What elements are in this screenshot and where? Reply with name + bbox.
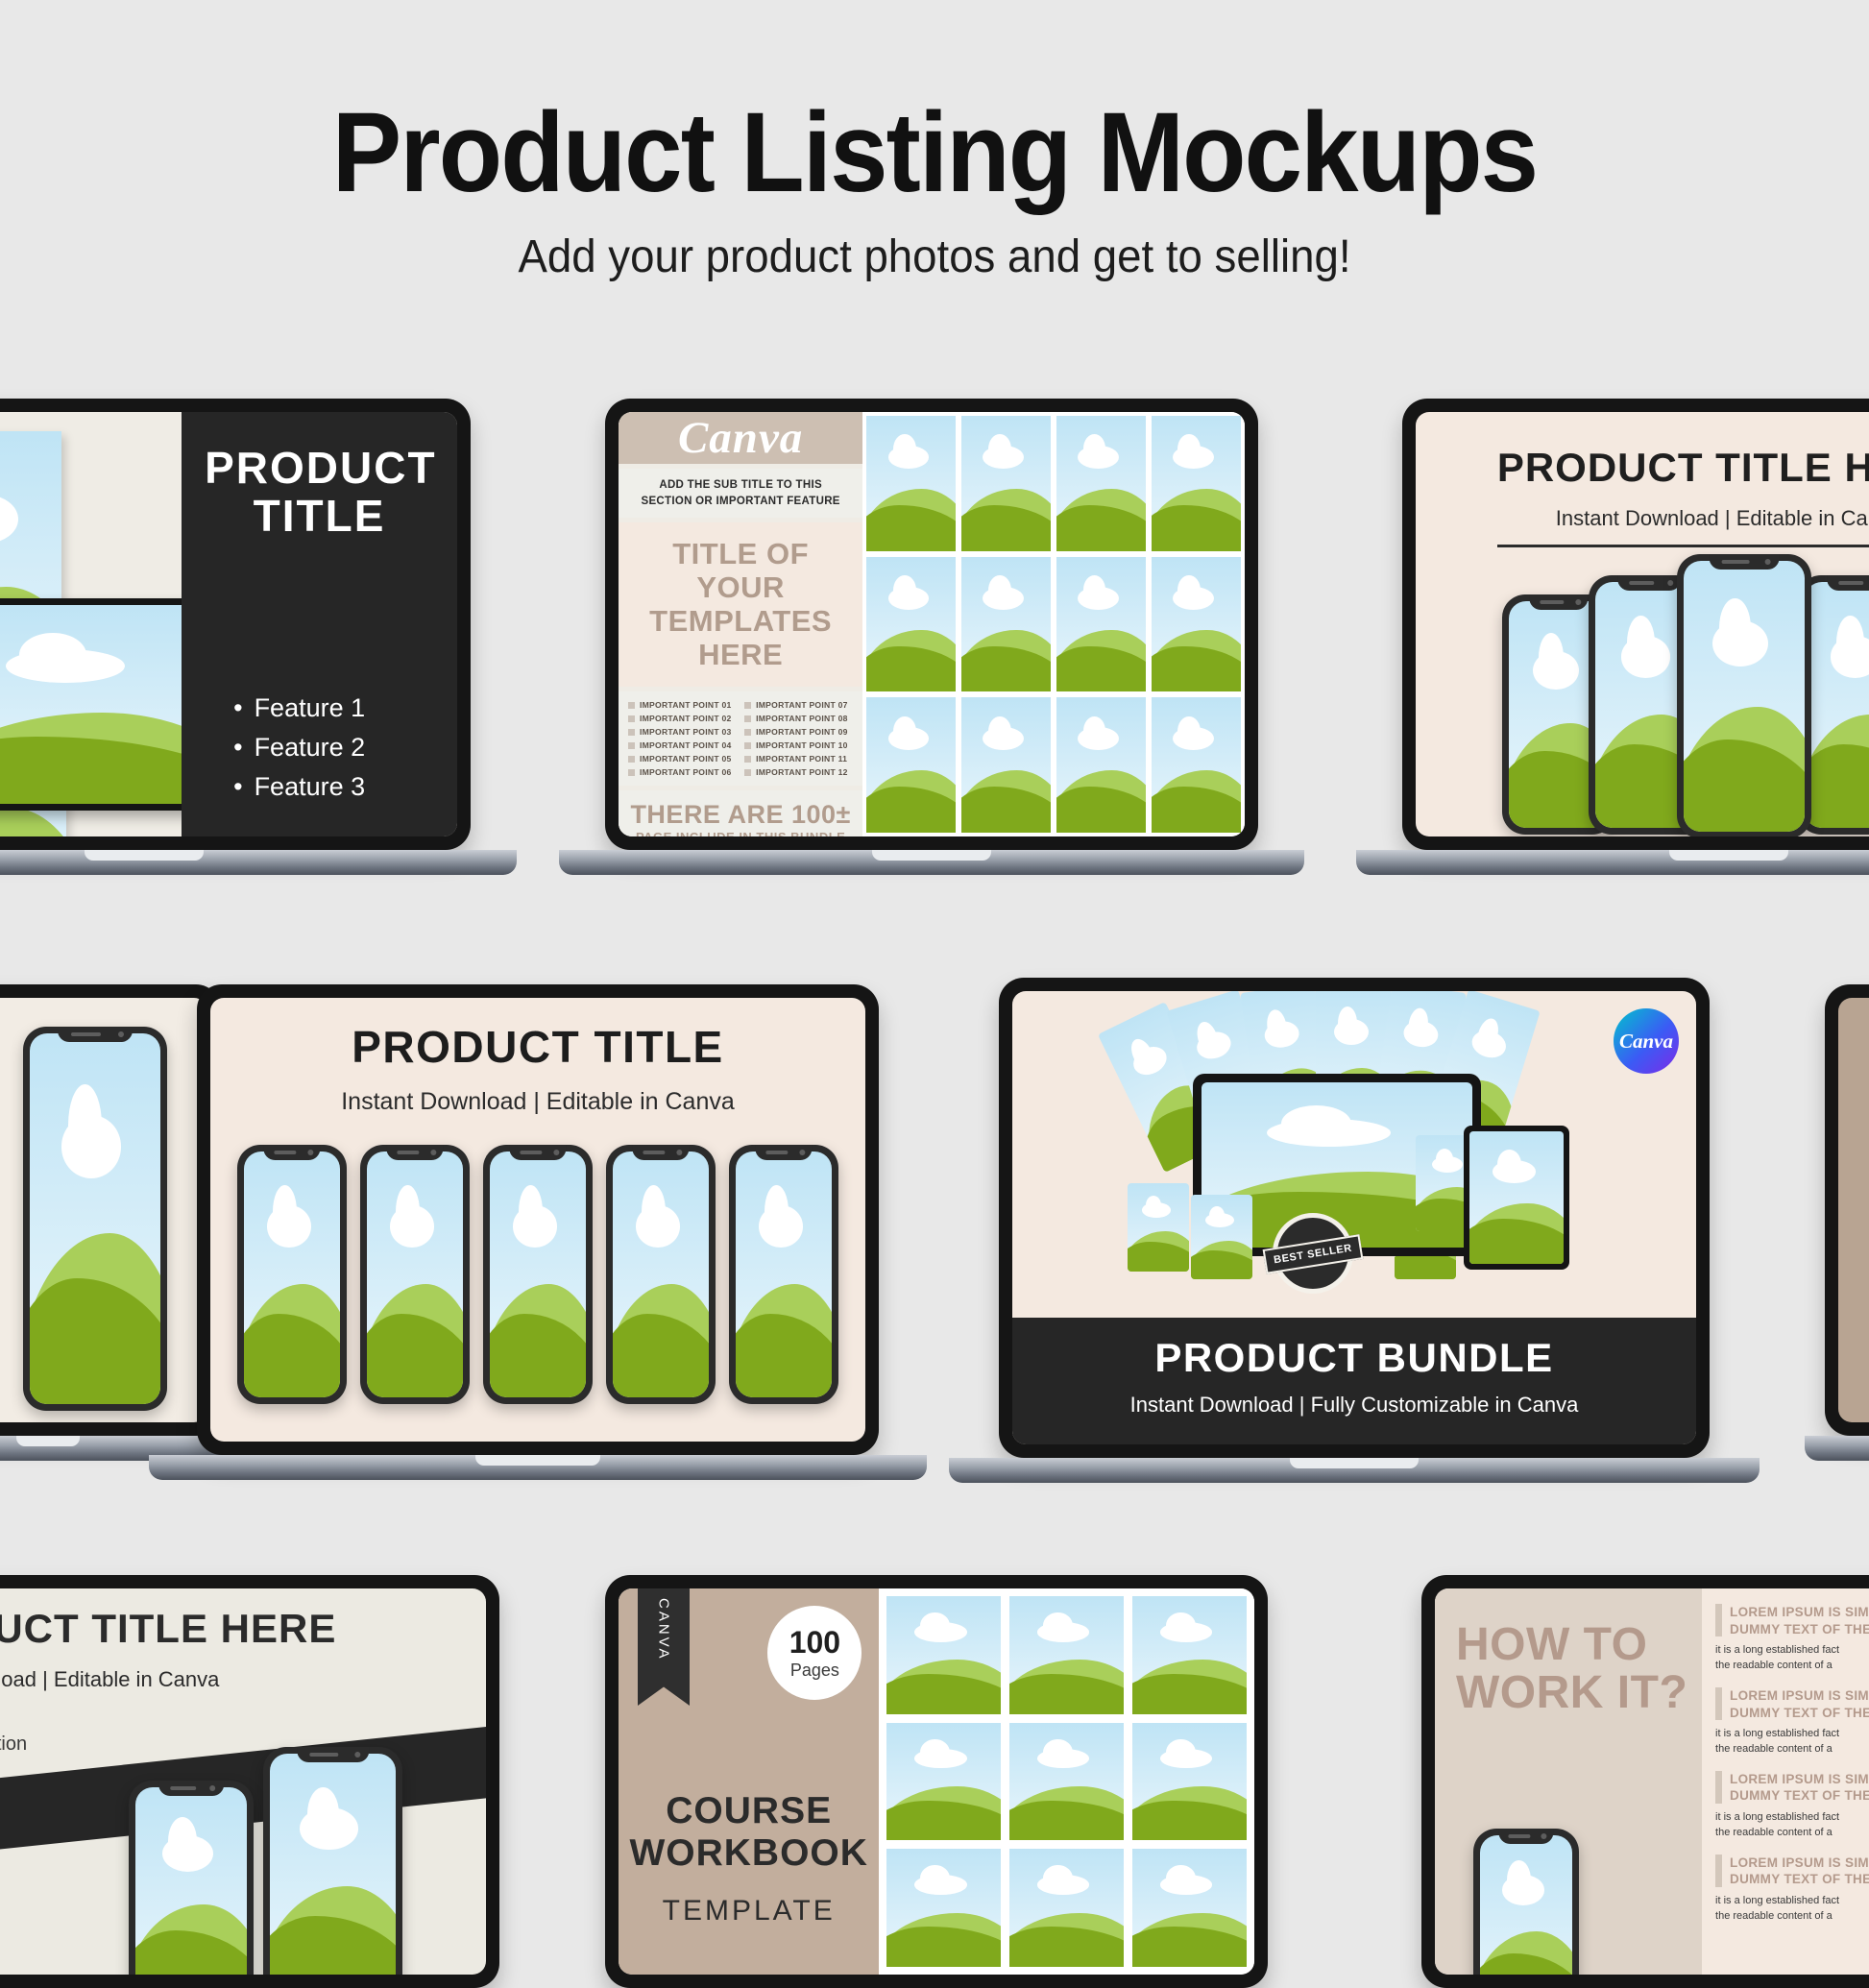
howto-block: LOREM IPSUM IS SIMPLY DUMMY TEXT OF THE … [1715, 1855, 1869, 1925]
canva-title-line1: TITLE OF YOUR [626, 538, 855, 604]
mockup-row-2: PRODUCT TITLE Instant Download | Editabl… [0, 970, 1869, 1479]
howto-block: LOREM IPSUM IS SIMPLY DUMMY TEXT OF THE … [1715, 1771, 1869, 1841]
tablet-screen: PRODUCT TITLE HERE Instant Download | Ed… [0, 1588, 486, 1975]
canva-info-column: Canva ADD THE SUB TITLE TO THIS SECTION … [619, 412, 862, 836]
mockup-laptop-product-title[interactable]: PRODUCT TITLE Feature 1 Feature 2 Featur… [0, 399, 471, 850]
tablet-lid: HOW TO WORK IT? LOREM IPSUM IS SIMPLY DU… [1421, 1575, 1869, 1988]
laptop-lid: PRODUCT TITLE Feature 1 Feature 2 Featur… [0, 399, 471, 850]
canva-footer-big: THERE ARE 100± [622, 800, 859, 830]
phone-device [483, 1145, 593, 1404]
divider [1497, 545, 1869, 547]
list-item: IMPORTANT POINT 08 [744, 714, 853, 723]
laptop1-title: PRODUCT TITLE [205, 445, 434, 540]
mockup-laptop-partial-left[interactable] [0, 984, 221, 1436]
list-item: IMPORTANT POINT 09 [744, 727, 853, 737]
canva-title-line2: TEMPLATES HERE [626, 605, 855, 671]
mockup-row-1: PRODUCT TITLE Feature 1 Feature 2 Featur… [0, 317, 1869, 701]
phone-row [210, 1145, 865, 1404]
phone-device [263, 1747, 402, 1975]
list-item: IMPORTANT POINT 02 [628, 714, 737, 723]
list-item: IMPORTANT POINT 12 [744, 767, 853, 777]
laptop-lid [1825, 984, 1869, 1436]
pages-badge: 100 Pages [767, 1606, 862, 1700]
phone-device [606, 1145, 716, 1404]
accent-bar-icon [1715, 1604, 1722, 1636]
canva-logo-text: Canva [678, 412, 803, 464]
accent-bar-icon [1715, 1687, 1722, 1720]
laptop3-subtitle: Instant Download | Editable in Canva [1416, 506, 1869, 531]
canva-ribbon: CANVA [638, 1588, 690, 1706]
bullet-square-icon [744, 756, 751, 763]
laptop-lid: PRODUCT TITLE Instant Download | Editabl… [197, 984, 879, 1455]
bullet-square-icon [744, 715, 751, 722]
howto-heading-line2: WORK IT? [1456, 1669, 1702, 1717]
laptop-lid [0, 984, 221, 1436]
laptop-screen [1838, 998, 1869, 1422]
mockup-tablet-product-title[interactable]: PRODUCT TITLE HERE Instant Download | Ed… [0, 1575, 499, 1988]
phone-device [23, 1027, 167, 1411]
list-item: IMPORTANT POINT 03 [628, 727, 737, 737]
bullet-square-icon [628, 742, 635, 749]
list-item: IMPORTANT POINT 05 [628, 754, 737, 764]
accent-bar-icon [1715, 1771, 1722, 1804]
mockup-row-3: PRODUCT TITLE HERE Instant Download | Ed… [0, 1575, 1869, 1873]
phone-device [729, 1145, 838, 1404]
phone-device [1473, 1829, 1579, 1975]
laptop-screen: PRODUCT TITLE Feature 1 Feature 2 Featur… [0, 412, 457, 836]
laptop-base [949, 1458, 1760, 1483]
laptop3-title: PRODUCT TITLE HERE [1416, 445, 1869, 491]
list-item: IMPORTANT POINT 07 [744, 700, 853, 710]
canva-logo: Canva [619, 412, 862, 464]
pages-number: 100 [789, 1625, 840, 1661]
canva-subtitle-line1: ADD THE SUB TITLE TO THIS [624, 477, 857, 494]
best-seller-stamp: BEST SELLER [1273, 1213, 1353, 1294]
canva-footer: THERE ARE 100± PAGE INCLUDE IN THIS BUND… [619, 790, 862, 836]
laptop-text-panel: PRODUCT TITLE Feature 1 Feature 2 Featur… [182, 412, 457, 836]
page-title: Product Listing Mockups [75, 96, 1794, 209]
bundle-fan-collage: BEST SELLER [1012, 991, 1696, 1318]
page-subtitle: Add your product photos and get to selli… [47, 230, 1823, 283]
workbook-title-line1: COURSE [619, 1790, 879, 1832]
tablet-lid: CANVA 100 Pages COURSE WORKBOOK TEMPLATE [605, 1575, 1268, 1988]
header: Product Listing Mockups Add your product… [0, 0, 1869, 317]
tabletL-title: PRODUCT TITLE HERE [0, 1606, 486, 1652]
mockup-laptop-phone-row[interactable]: PRODUCT TITLE Instant Download | Editabl… [197, 984, 879, 1455]
feature-list: Feature 1 Feature 2 Feature 3 [205, 693, 434, 802]
lapB-subtitle: Instant Download | Editable in Canva [210, 1088, 865, 1116]
tabletL-subtitle: Instant Download | Editable in Canva [0, 1667, 486, 1692]
mockup-laptop-canva-template[interactable]: Canva ADD THE SUB TITLE TO THIS SECTION … [605, 399, 1258, 850]
laptop-base [149, 1455, 926, 1480]
phone-device [1677, 554, 1811, 836]
howto-block: LOREM IPSUM IS SIMPLY DUMMY TEXT OF THE … [1715, 1604, 1869, 1674]
bullet-square-icon [744, 729, 751, 736]
bullet-square-icon [744, 742, 751, 749]
accent-bar-icon [1715, 1855, 1722, 1887]
mockup-laptop-partial-right[interactable] [1825, 984, 1869, 1436]
laptop-lid: Canva [999, 978, 1710, 1458]
mockup-laptop-product-bundle[interactable]: Canva [999, 978, 1710, 1458]
bullet-square-icon [628, 756, 635, 763]
bundle-title: PRODUCT BUNDLE [1012, 1335, 1696, 1381]
laptop-base [559, 850, 1303, 875]
mockup-tablet-course-workbook[interactable]: CANVA 100 Pages COURSE WORKBOOK TEMPLATE [605, 1575, 1268, 1988]
phone-device [129, 1781, 254, 1975]
canva-footer-small: PAGE INCLUDE IN THIS BUNDLE [622, 830, 859, 836]
laptop-lid: Canva ADD THE SUB TITLE TO THIS SECTION … [605, 399, 1258, 850]
lapB-title: PRODUCT TITLE [210, 1021, 865, 1073]
laptop-screen: Canva ADD THE SUB TITLE TO THIS SECTION … [619, 412, 1245, 836]
workbook-title-line2: WORKBOOK [619, 1832, 879, 1875]
canva-title: TITLE OF YOUR TEMPLATES HERE [619, 522, 862, 687]
laptop-base [1356, 850, 1869, 875]
laptop-screen: PRODUCT TITLE HERE Instant Download | Ed… [1416, 412, 1869, 836]
bullet-square-icon [744, 769, 751, 776]
mockup-laptop-phones-trio[interactable]: PRODUCT TITLE HERE Instant Download | Ed… [1402, 399, 1869, 850]
workbook-thumbnail-grid [879, 1588, 1254, 1975]
list-item: IMPORTANT POINT 04 [628, 740, 737, 750]
bundle-subtitle: Instant Download | Fully Customizable in… [1012, 1393, 1696, 1418]
workbook-title-line3: TEMPLATE [619, 1895, 879, 1927]
bullet-square-icon [744, 702, 751, 709]
list-item: Feature 1 [233, 693, 434, 723]
pages-label: Pages [790, 1661, 839, 1681]
list-item: Feature 2 [233, 733, 434, 763]
laptop-lid: PRODUCT TITLE HERE Instant Download | Ed… [1402, 399, 1869, 850]
list-item: IMPORTANT POINT 10 [744, 740, 853, 750]
tablet-screen: CANVA 100 Pages COURSE WORKBOOK TEMPLATE [619, 1588, 1254, 1975]
bundle-caption-bar: PRODUCT BUNDLE Instant Download | Fully … [1012, 1318, 1696, 1444]
howto-block: LOREM IPSUM IS SIMPLY DUMMY TEXT OF THE … [1715, 1687, 1869, 1758]
howto-text-column: LOREM IPSUM IS SIMPLY DUMMY TEXT OF THE … [1702, 1588, 1869, 1975]
canva-subtitle: ADD THE SUB TITLE TO THIS SECTION OR IMP… [619, 469, 862, 518]
tablet-screen: HOW TO WORK IT? LOREM IPSUM IS SIMPLY DU… [1435, 1588, 1869, 1975]
bundle-tablet-device [1464, 1126, 1569, 1270]
template-thumbnail-grid [862, 412, 1245, 836]
workbook-cover: CANVA 100 Pages COURSE WORKBOOK TEMPLATE [619, 1588, 879, 1975]
laptop-screen [0, 998, 207, 1422]
bullet-square-icon [628, 702, 635, 709]
bullet-square-icon [628, 715, 635, 722]
howto-heading-panel: HOW TO WORK IT? [1435, 1588, 1702, 1975]
phone-device [237, 1145, 347, 1404]
list-item: IMPORTANT POINT 11 [744, 754, 853, 764]
phone-device [360, 1145, 470, 1404]
tablet-lid: PRODUCT TITLE HERE Instant Download | Ed… [0, 1575, 499, 1988]
laptop-screen: PRODUCT TITLE Instant Download | Editabl… [210, 998, 865, 1442]
bullet-square-icon [628, 729, 635, 736]
bullet-square-icon [628, 769, 635, 776]
mini-laptop-device [0, 598, 182, 811]
list-item: IMPORTANT POINT 06 [628, 767, 737, 777]
mini-card-collage [0, 412, 182, 836]
list-item: IMPORTANT POINT 01 [628, 700, 737, 710]
laptop-base [0, 850, 517, 875]
important-points-grid: IMPORTANT POINT 01 IMPORTANT POINT 07 IM… [619, 691, 862, 786]
howto-heading-line1: HOW TO [1456, 1621, 1702, 1669]
canva-subtitle-line2: SECTION OR IMPORTANT FEATURE [624, 494, 857, 510]
laptop-screen: Canva [1012, 991, 1696, 1444]
laptop-base [1805, 1436, 1869, 1461]
list-item: Feature 3 [233, 772, 434, 802]
canva-badge-icon: Canva [1614, 1008, 1679, 1074]
mockup-tablet-how-to-work-it[interactable]: HOW TO WORK IT? LOREM IPSUM IS SIMPLY DU… [1421, 1575, 1869, 1988]
